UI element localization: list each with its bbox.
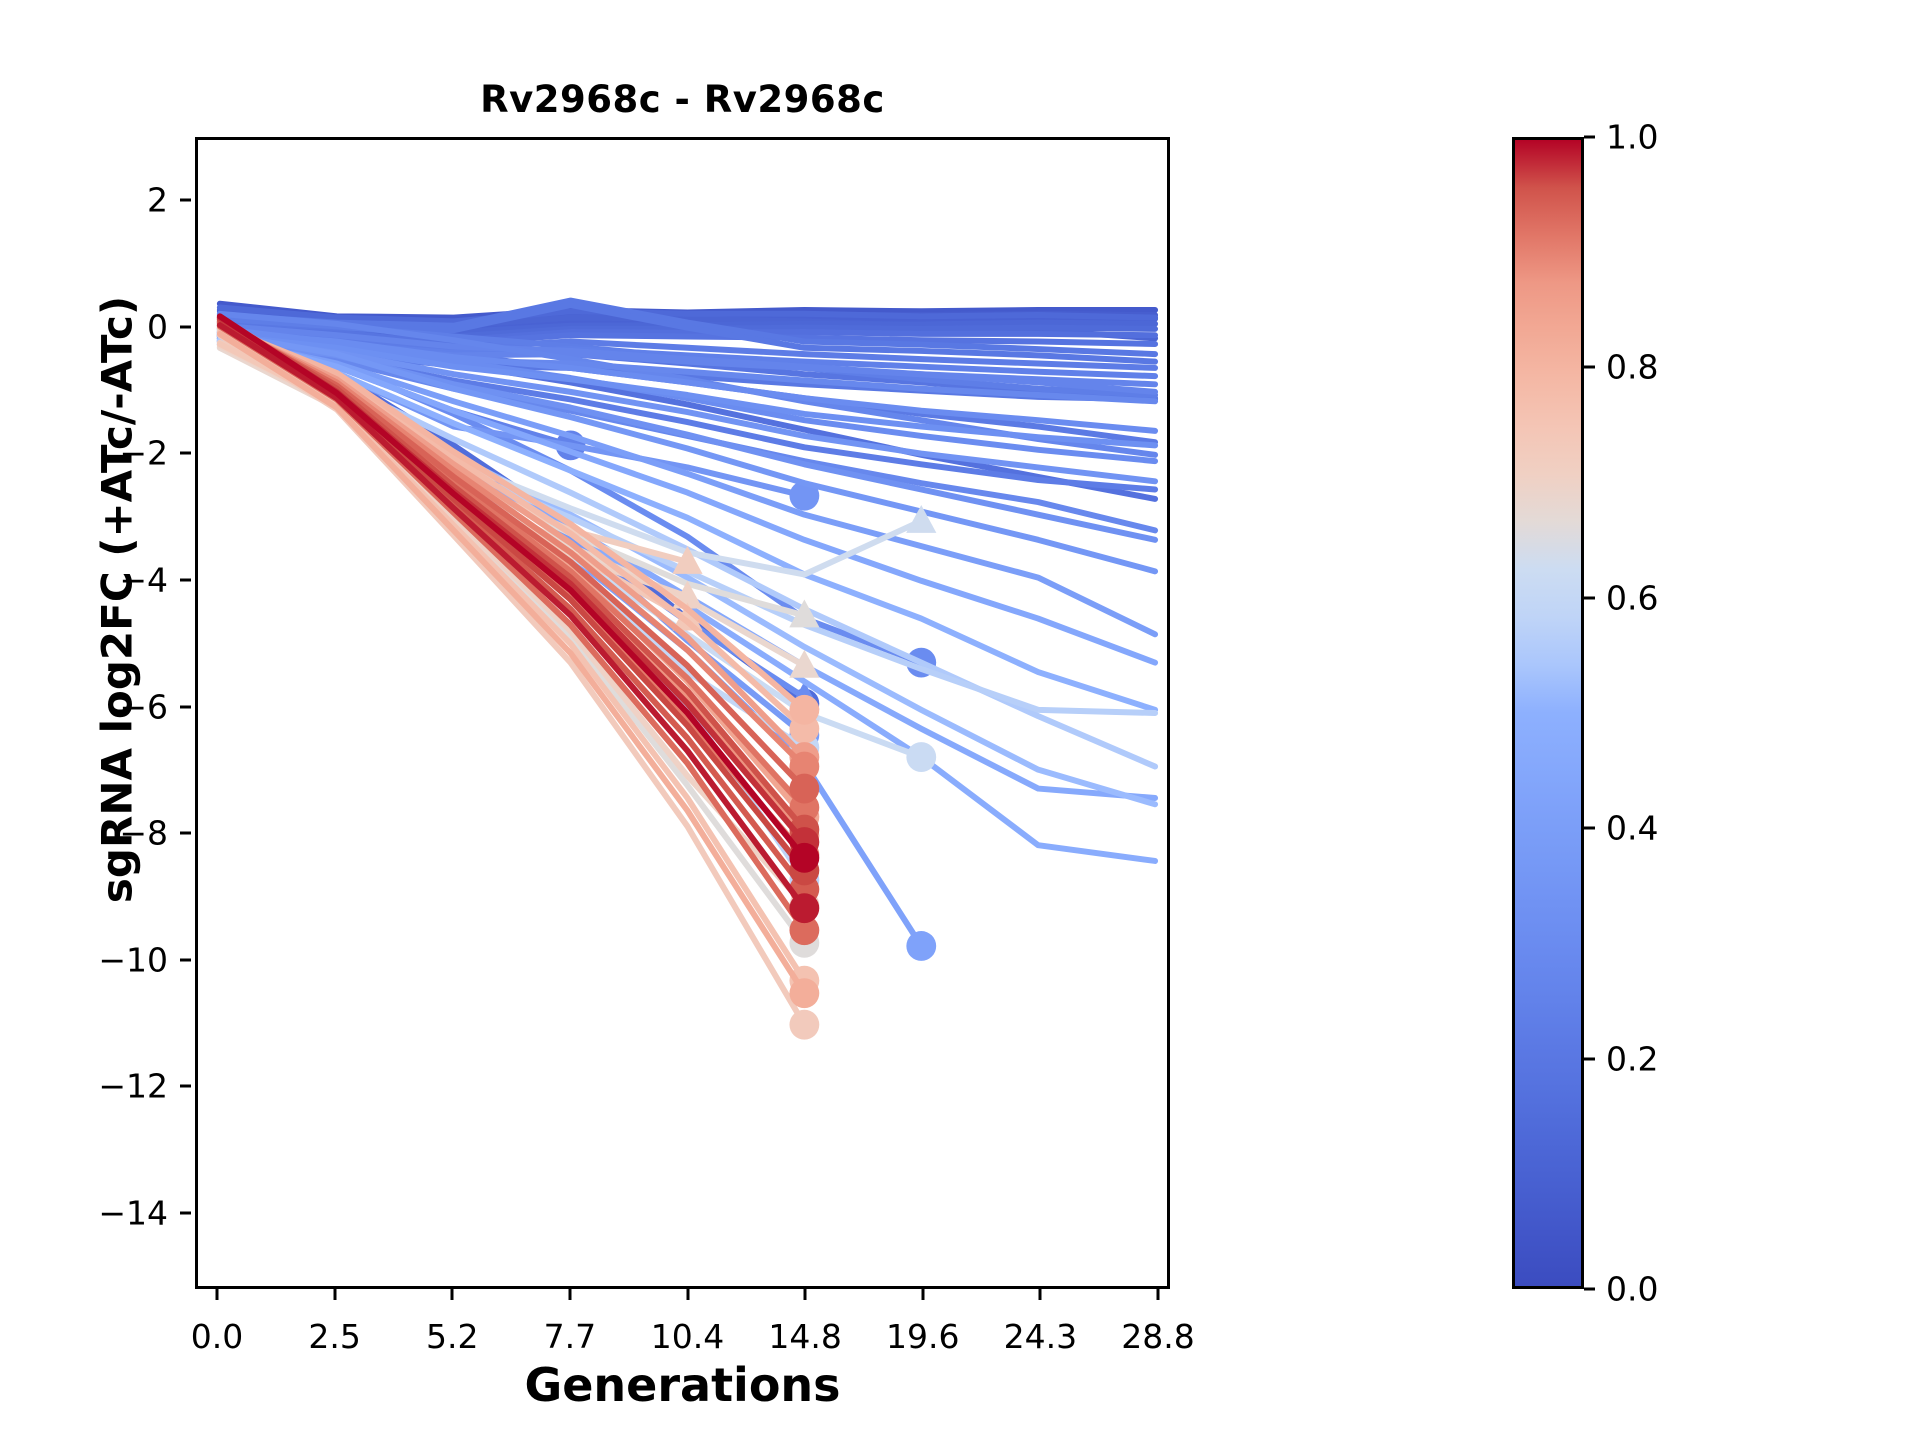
colorbar-gradient <box>1512 137 1584 1289</box>
line-chart-svg <box>198 140 1167 1286</box>
series-endpoint-circle-marker <box>789 893 819 923</box>
x-tick-mark <box>921 1289 924 1300</box>
x-tick-label: 28.8 <box>1121 1317 1194 1356</box>
colorbar-tick-label: 0.4 <box>1606 809 1658 848</box>
x-axis-label: Generations <box>195 1358 1170 1412</box>
x-tick-mark <box>1157 1289 1160 1300</box>
series-endpoint-circle-marker <box>789 843 819 873</box>
y-axis-ticks: 20−2−4−6−8−10−12−14 <box>0 137 188 1289</box>
y-tick-label: −12 <box>98 1067 168 1106</box>
x-tick-label: 10.4 <box>651 1317 724 1356</box>
x-tick-label: 24.3 <box>1004 1317 1077 1356</box>
x-tick-mark <box>686 1289 689 1300</box>
x-tick-label: 7.7 <box>544 1317 596 1356</box>
y-tick-mark <box>180 452 191 455</box>
plot-area <box>195 137 1170 1289</box>
colorbar[interactable] <box>1512 137 1584 1289</box>
colorbar-tick-mark <box>1584 1057 1595 1060</box>
colorbar-tick-label: 0.0 <box>1606 1270 1658 1309</box>
x-tick-label: 19.6 <box>886 1317 959 1356</box>
colorbar-tick-label: 1.0 <box>1606 118 1658 157</box>
y-tick-mark <box>180 958 191 961</box>
x-tick-mark <box>1039 1289 1042 1300</box>
series-endpoint-circle-marker <box>789 774 819 804</box>
y-tick-mark <box>180 705 191 708</box>
x-tick-label: 14.8 <box>768 1317 841 1356</box>
y-tick-mark <box>180 579 191 582</box>
series-sgRNA_51 <box>220 323 819 905</box>
colorbar-tick-mark <box>1584 366 1595 369</box>
page-title: Rv2968c - Rv2968c <box>195 78 1170 121</box>
x-tick-label: 5.2 <box>426 1317 478 1356</box>
series-endpoint-circle-marker <box>789 1010 819 1040</box>
x-tick-label: 0.0 <box>191 1317 243 1356</box>
x-tick-mark <box>216 1289 219 1300</box>
colorbar-tick-mark <box>1584 596 1595 599</box>
series-endpoint-circle-marker <box>789 695 819 725</box>
series-endpoint-circle-marker <box>906 742 936 772</box>
figure-canvas: Rv2968c - Rv2968c sgRNA log2FC (+ATc/-AT… <box>0 0 1920 1440</box>
y-tick-label: −8 <box>119 814 168 853</box>
y-tick-mark <box>180 1085 191 1088</box>
colorbar-tick-mark <box>1584 1288 1595 1291</box>
x-tick-mark <box>568 1289 571 1300</box>
colorbar-tick-label: 0.8 <box>1606 348 1658 387</box>
x-tick-mark <box>804 1289 807 1300</box>
colorbar-tick-label: 0.6 <box>1606 578 1658 617</box>
x-tick-label: 2.5 <box>308 1317 360 1356</box>
y-tick-mark <box>180 199 191 202</box>
y-tick-label: −14 <box>98 1194 168 1233</box>
colorbar-ticks: 0.00.20.40.60.81.0 <box>1584 137 1784 1289</box>
series-endpoint-circle-marker <box>906 931 936 961</box>
y-tick-mark <box>180 832 191 835</box>
y-tick-label: 0 <box>147 307 168 346</box>
y-tick-label: −2 <box>119 434 168 473</box>
y-tick-label: −4 <box>119 561 168 600</box>
y-tick-label: −6 <box>119 687 168 726</box>
y-tick-mark <box>180 325 191 328</box>
y-tick-mark <box>180 1212 191 1215</box>
x-tick-mark <box>451 1289 454 1300</box>
y-tick-label: 2 <box>147 181 168 220</box>
x-tick-mark <box>333 1289 336 1300</box>
series-endpoint-circle-marker <box>789 978 819 1008</box>
colorbar-tick-mark <box>1584 136 1595 139</box>
colorbar-tick-mark <box>1584 827 1595 830</box>
y-tick-label: −10 <box>98 940 168 979</box>
colorbar-tick-label: 0.2 <box>1606 1039 1658 1078</box>
x-axis-ticks: 0.02.55.27.710.414.819.624.328.8 <box>195 1289 1170 1359</box>
